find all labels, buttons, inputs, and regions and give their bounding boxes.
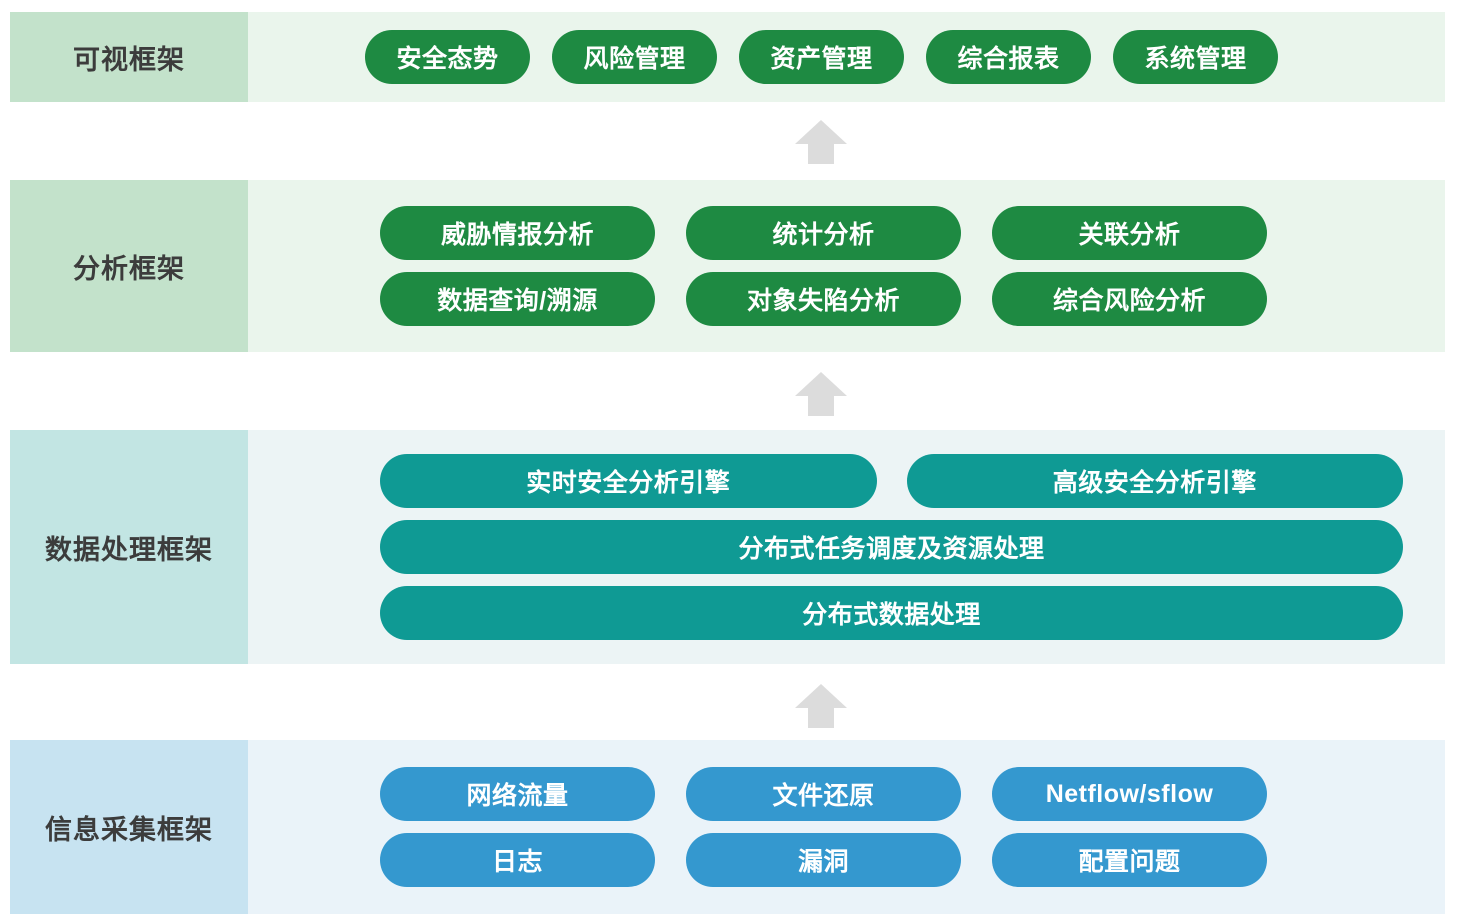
pill-row: 分布式数据处理 xyxy=(380,586,1403,640)
module-data-query-traceability[interactable]: 数据查询/溯源 xyxy=(380,272,655,326)
module-security-posture[interactable]: 安全态势 xyxy=(365,30,530,84)
layer-collection-framework: 信息采集框架 网络流量 文件还原 Netflow/sflow 日志 漏洞 配置问… xyxy=(10,740,1445,914)
pill-row: 数据查询/溯源 对象失陷分析 综合风险分析 xyxy=(380,272,1445,326)
layer-label-data-processing-framework: 数据处理框架 xyxy=(10,430,248,664)
module-distributed-task-scheduling-resource[interactable]: 分布式任务调度及资源处理 xyxy=(380,520,1403,574)
layer-body-data-processing-framework: 实时安全分析引擎 高级安全分析引擎 分布式任务调度及资源处理 分布式数据处理 xyxy=(248,430,1445,664)
pill-row: 安全态势 风险管理 资产管理 综合报表 系统管理 xyxy=(365,30,1445,84)
layer-body-collection-framework: 网络流量 文件还原 Netflow/sflow 日志 漏洞 配置问题 xyxy=(248,740,1445,914)
layer-label-visual-framework: 可视框架 xyxy=(10,12,248,102)
layer-body-visual-framework: 安全态势 风险管理 资产管理 综合报表 系统管理 xyxy=(248,12,1445,102)
module-integrated-reports[interactable]: 综合报表 xyxy=(926,30,1091,84)
module-distributed-data-processing[interactable]: 分布式数据处理 xyxy=(380,586,1403,640)
pill-row: 威胁情报分析 统计分析 关联分析 xyxy=(380,206,1445,260)
layer-visual-framework: 可视框架 安全态势 风险管理 资产管理 综合报表 系统管理 xyxy=(10,12,1445,102)
arrow-up-icon-collect-to-data xyxy=(795,684,847,728)
module-threat-intel-analysis[interactable]: 威胁情报分析 xyxy=(380,206,655,260)
module-asset-management[interactable]: 资产管理 xyxy=(739,30,904,84)
pill-row: 实时安全分析引擎 高级安全分析引擎 xyxy=(380,454,1403,508)
module-netflow-sflow[interactable]: Netflow/sflow xyxy=(992,767,1267,821)
module-risk-management[interactable]: 风险管理 xyxy=(552,30,717,84)
layer-body-analysis-framework: 威胁情报分析 统计分析 关联分析 数据查询/溯源 对象失陷分析 综合风险分析 xyxy=(248,180,1445,352)
module-file-restoration[interactable]: 文件还原 xyxy=(686,767,961,821)
module-logs[interactable]: 日志 xyxy=(380,833,655,887)
module-advanced-security-analysis-engine[interactable]: 高级安全分析引擎 xyxy=(907,454,1404,508)
pill-row: 网络流量 文件还原 Netflow/sflow xyxy=(380,767,1445,821)
module-correlation-analysis[interactable]: 关联分析 xyxy=(992,206,1267,260)
pill-row: 日志 漏洞 配置问题 xyxy=(380,833,1445,887)
module-network-traffic[interactable]: 网络流量 xyxy=(380,767,655,821)
module-realtime-security-analysis-engine[interactable]: 实时安全分析引擎 xyxy=(380,454,877,508)
module-system-management[interactable]: 系统管理 xyxy=(1113,30,1278,84)
arrow-up-icon-data-to-analysis xyxy=(795,372,847,416)
module-configuration-issues[interactable]: 配置问题 xyxy=(992,833,1267,887)
layer-data-processing-framework: 数据处理框架 实时安全分析引擎 高级安全分析引擎 分布式任务调度及资源处理 分布… xyxy=(10,430,1445,664)
layer-label-analysis-framework: 分析框架 xyxy=(10,180,248,352)
arrow-up-icon-analysis-to-visual xyxy=(795,120,847,164)
pill-row: 分布式任务调度及资源处理 xyxy=(380,520,1403,574)
layer-label-collection-framework: 信息采集框架 xyxy=(10,740,248,914)
module-object-compromise-analysis[interactable]: 对象失陷分析 xyxy=(686,272,961,326)
architecture-diagram: 可视框架 安全态势 风险管理 资产管理 综合报表 系统管理 分析框架 威胁情报分… xyxy=(0,0,1464,914)
layer-analysis-framework: 分析框架 威胁情报分析 统计分析 关联分析 数据查询/溯源 对象失陷分析 综合风… xyxy=(10,180,1445,352)
module-integrated-risk-analysis[interactable]: 综合风险分析 xyxy=(992,272,1267,326)
module-statistical-analysis[interactable]: 统计分析 xyxy=(686,206,961,260)
module-vulnerabilities[interactable]: 漏洞 xyxy=(686,833,961,887)
